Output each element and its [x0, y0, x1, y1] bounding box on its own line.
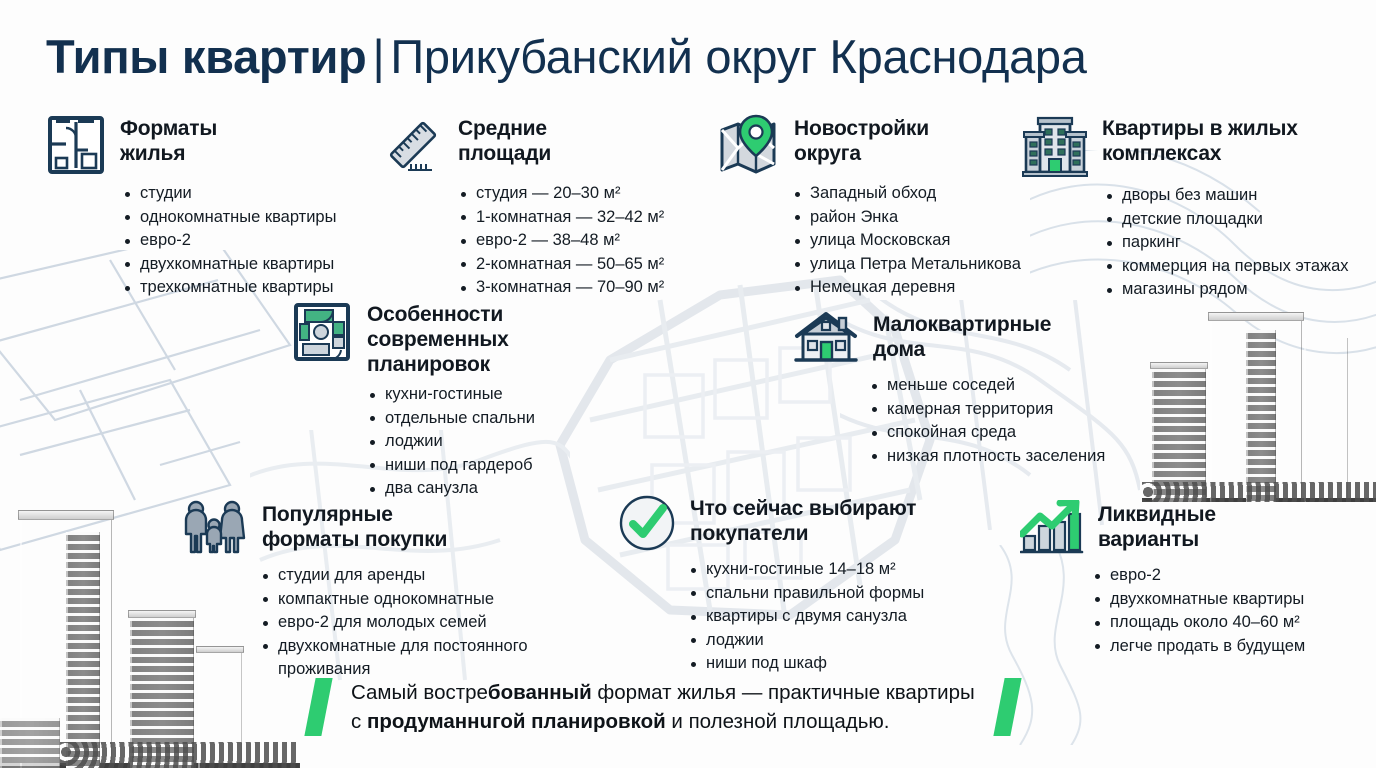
list-item: однокомнатные квартиры: [124, 206, 376, 230]
footer-line1-pre: Самый востре: [351, 681, 488, 704]
list-item: лоджии: [690, 629, 968, 653]
footer-line2-post: и полезной площадью.: [666, 710, 890, 733]
list-item: дворы без машин: [1106, 184, 1362, 208]
block-list: студия — 20–30 м² 1-комнатная — 32–42 м²…: [460, 182, 712, 300]
list-item: студия — 20–30 м²: [460, 182, 712, 206]
list-item: меньше соседей: [871, 374, 1133, 398]
footer-line1-bold: бованный: [488, 681, 592, 704]
house-icon: [793, 310, 859, 368]
list-item: двухкомнатные квартиры: [1094, 588, 1360, 612]
list-item: 1-комнатная — 32–42 м²: [460, 206, 712, 230]
footer-line-2: с продуманнuгой планировкой и полезной п…: [351, 707, 975, 736]
block-title: Форматы жилья: [120, 114, 217, 166]
block-srednie-ploschadi: Средние площади студия — 20–30 м² 1-комн…: [382, 114, 712, 300]
footer-line2-bold: продуманнuгой планировкой: [367, 710, 666, 733]
list-item: магазины рядом: [1106, 278, 1362, 302]
list-item: площадь около 40–60 м²: [1094, 611, 1360, 635]
list-item: лоджии: [369, 430, 581, 454]
list-item: 3-комнатная — 70–90 м²: [460, 276, 712, 300]
block-list: студии однокомнатные квартиры евро-2 дву…: [124, 182, 376, 300]
list-item: легче продать в будущем: [1094, 635, 1360, 659]
block-osobennosti-planirovok: Особенности современных планировок кухни…: [291, 300, 581, 501]
block-list: Западный обход район Энка улица Московск…: [794, 182, 1046, 300]
footer-line1-post: формат жилья — практичные квартиры: [592, 681, 975, 704]
block-list: кухни-гостиные отдельные спальни лоджии …: [369, 383, 581, 501]
block-likvidnye-varianty: Ликвидные варианты евро-2 двухкомнатные …: [1020, 500, 1360, 658]
block-title: Новостройки округа: [794, 114, 929, 166]
list-item: студии для аренды: [262, 564, 540, 588]
growth-chart-icon: [1020, 500, 1084, 558]
list-item: ниши под гардероб: [369, 454, 581, 478]
block-chto-vybirayut-pokupateli: Что сейчас выбирают покупатели кухни-гос…: [618, 494, 968, 676]
highrise-photo-right: [1142, 290, 1376, 502]
block-novostroyki-okruga: Новостройки округа Западный обход район …: [716, 114, 1046, 300]
list-item: Западный обход: [794, 182, 1046, 206]
list-item: двухкомнатные квартиры: [124, 253, 376, 277]
block-malokvartirnye-doma: Малоквартирные дома меньше соседей камер…: [793, 310, 1133, 468]
infographic-canvas: Типы квартир|Прикубанский округ Краснода…: [0, 0, 1376, 768]
list-item: двухкомнатные для постоянного проживания: [262, 635, 540, 682]
title-separator: |: [366, 30, 390, 83]
list-item: ниши под шкаф: [690, 652, 968, 676]
block-list: меньше соседей камерная территория споко…: [871, 374, 1133, 468]
list-item: студии: [124, 182, 376, 206]
title-bold-part: Типы квартир: [46, 30, 366, 83]
ruler-icon: [382, 114, 444, 176]
block-title: Что сейчас выбирают покупатели: [690, 494, 916, 546]
list-item: трехкомнатные квартиры: [124, 276, 376, 300]
footer-banner: Самый востребованный формат жилья — прак…: [310, 678, 1016, 736]
list-item: детские площадки: [1106, 208, 1362, 232]
block-title: Средние площади: [458, 114, 551, 166]
block-list: дворы без машин детские площадки паркинг…: [1106, 184, 1362, 302]
block-title: Малоквартирные дома: [873, 310, 1051, 362]
list-item: район Энка: [794, 206, 1046, 230]
list-item: компактные однокомнатные: [262, 588, 540, 612]
list-item: евро-2 — 38–48 м²: [460, 229, 712, 253]
list-item: Немецкая деревня: [794, 276, 1046, 300]
footer-statement: Самый востребованный формат жилья — прак…: [327, 678, 999, 736]
list-item: евро-2: [1094, 564, 1360, 588]
block-title: Квартиры в жилых комплексах: [1102, 114, 1298, 166]
block-formaty-zhilya: Форматы жилья студии однокомнатные кварт…: [46, 114, 376, 300]
list-item: отдельные спальни: [369, 407, 581, 431]
list-item: низкая плотность заселения: [871, 445, 1133, 469]
list-item: два санузла: [369, 477, 581, 501]
family-icon: [180, 500, 248, 558]
block-kvartiry-v-zhilyh-kompleksah: Квартиры в жилых комплексах дворы без ма…: [1022, 114, 1362, 302]
list-item: евро-2: [124, 229, 376, 253]
block-title: Ликвидные варианты: [1098, 500, 1216, 552]
title-regular-part: Прикубанский округ Краснодара: [390, 30, 1086, 83]
list-item: спальни правильной формы: [690, 582, 968, 606]
list-item: 2-комнатная — 50–65 м²: [460, 253, 712, 277]
list-item: евро-2 для молодых семей: [262, 611, 540, 635]
page-title: Типы квартир|Прикубанский округ Краснода…: [46, 28, 1087, 86]
list-item: улица Московская: [794, 229, 1046, 253]
map-pin-icon: [716, 114, 780, 176]
list-item: квартиры с двумя санузла: [690, 605, 968, 629]
list-item: кухни-гостиные: [369, 383, 581, 407]
apartment-building-icon: [1022, 114, 1088, 178]
block-list: студии для аренды компактные однокомнатн…: [262, 564, 540, 682]
footer-line2-pre: с: [351, 710, 367, 733]
list-item: коммерция на первых этажах: [1106, 255, 1362, 279]
list-item: спокойная среда: [871, 421, 1133, 445]
footer-line-1: Самый востребованный формат жилья — прак…: [351, 678, 975, 707]
list-item: паркинг: [1106, 231, 1362, 255]
block-list: евро-2 двухкомнатные квартиры площадь ок…: [1094, 564, 1360, 658]
list-item: кухни-гостиные 14–18 м²: [690, 558, 968, 582]
floorplan-icon: [46, 114, 106, 176]
list-item: улица Петра Метальникова: [794, 253, 1046, 277]
room-layout-icon: [291, 300, 353, 364]
block-list: кухни-гостиные 14–18 м² спальни правильн…: [690, 558, 968, 676]
block-title: Популярные форматы покупки: [262, 500, 447, 552]
list-item: камерная территория: [871, 398, 1133, 422]
block-populyarnye-formaty-pokupki: Популярные форматы покупки студии для ар…: [180, 500, 540, 682]
block-title: Особенности современных планировок: [367, 300, 509, 377]
check-circle-icon: [618, 494, 676, 552]
